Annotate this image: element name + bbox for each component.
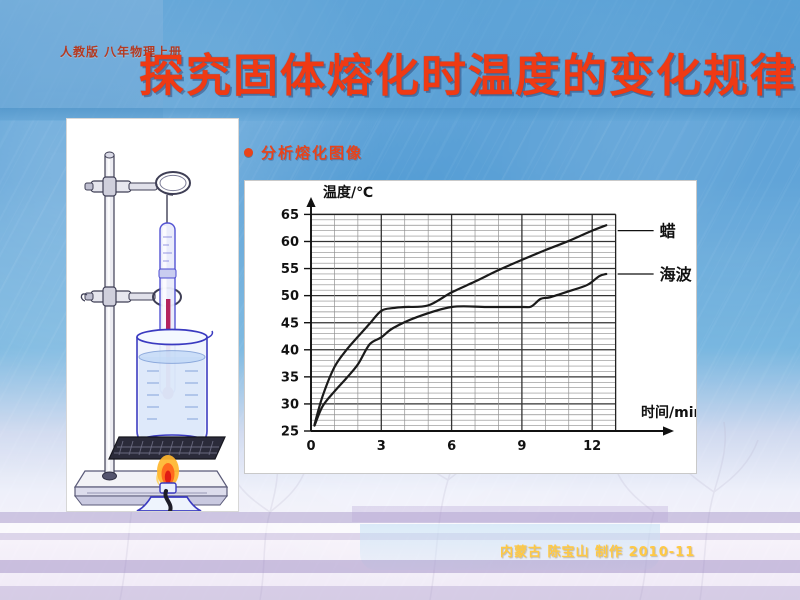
- y-tick-label: 30: [281, 398, 299, 413]
- apparatus-photo: [66, 118, 239, 512]
- y-tick-label: 55: [281, 262, 299, 277]
- bullet-label: 分析熔化图像: [261, 142, 363, 163]
- series-label: 蜡: [660, 222, 676, 241]
- stand-rod-icon: [103, 152, 117, 480]
- x-axis-label: 时间/min: [641, 404, 696, 421]
- chart-svg: 253035404550556065036912温度/℃时间/min蜡海波: [245, 181, 696, 473]
- y-tick-label: 60: [281, 235, 299, 250]
- credit-footer: 内蒙古 陈宝山 制作 2010-11: [500, 541, 695, 560]
- y-axis-label: 温度/℃: [323, 184, 373, 201]
- melting-curve-chart: 253035404550556065036912温度/℃时间/min蜡海波: [244, 180, 697, 474]
- beaker-icon: [137, 330, 212, 448]
- x-tick-label: 3: [377, 439, 386, 454]
- y-tick-label: 65: [281, 208, 299, 223]
- y-tick-label: 50: [281, 289, 299, 304]
- x-tick-label: 6: [447, 439, 456, 454]
- y-tick-label: 25: [281, 425, 299, 440]
- bullet-item: 分析熔化图像: [244, 142, 363, 163]
- x-tick-label: 0: [306, 439, 315, 454]
- slide-canvas: 人教版 八年物理上册 探究固体熔化时温度的变化规律 分析熔化图像: [0, 0, 800, 600]
- y-tick-label: 40: [281, 343, 299, 358]
- y-tick-label: 35: [281, 370, 299, 385]
- apparatus-diagram: [67, 119, 238, 511]
- x-tick-label: 9: [517, 439, 526, 454]
- decor-band-4: [0, 586, 800, 600]
- x-tick-label: 12: [583, 439, 601, 454]
- series-label: 海波: [660, 265, 693, 284]
- decor-plate-top: [352, 506, 668, 522]
- page-title: 探究固体熔化时温度的变化规律: [139, 52, 779, 99]
- bullet-dot-icon: [244, 148, 253, 157]
- y-tick-label: 45: [281, 316, 299, 331]
